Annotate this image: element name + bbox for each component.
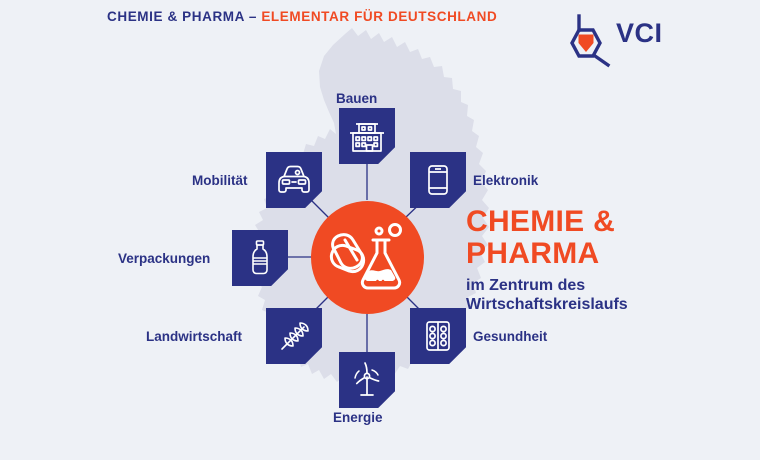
callout-block: CHEMIE & PHARMA im Zentrum des Wirtschaf…: [466, 206, 628, 314]
sector-label-mobilitaet: Mobilität: [192, 173, 248, 188]
infographic-canvas: CHEMIE & PHARMA – ELEMENTAR FÜR DEUTSCHL…: [0, 0, 760, 460]
callout-line-2: PHARMA: [466, 238, 628, 270]
sector-label-gesundheit: Gesundheit: [473, 329, 547, 344]
sector-label-verpackungen: Verpackungen: [118, 251, 210, 266]
sector-label-energie: Energie: [333, 410, 383, 425]
sector-label-landwirtschaft: Landwirtschaft: [146, 329, 242, 344]
callout-sub-2: Wirtschaftskreislaufs: [466, 295, 628, 314]
callout-line-1: CHEMIE &: [466, 206, 628, 238]
sector-label-bauen: Bauen: [336, 91, 377, 106]
sector-label-elektronik: Elektronik: [473, 173, 538, 188]
pills-and-flask-icon: [311, 201, 424, 314]
callout-sub-1: im Zentrum des: [466, 276, 628, 295]
center-hub[interactable]: [311, 201, 424, 314]
